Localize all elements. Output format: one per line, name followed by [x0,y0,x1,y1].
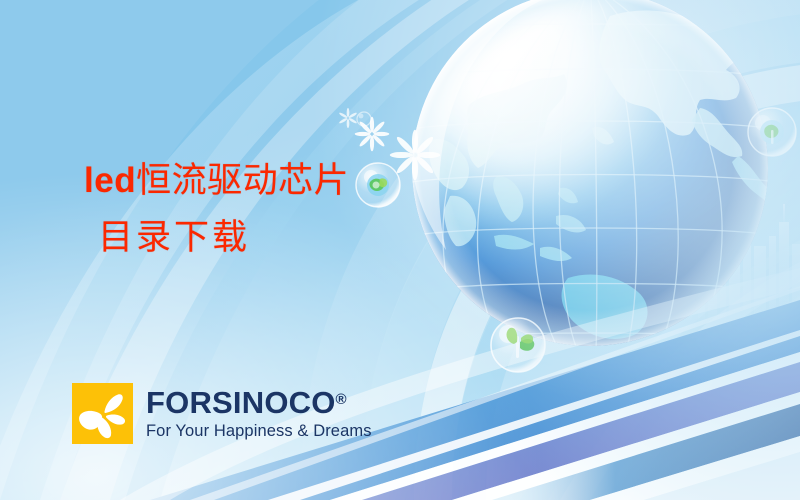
headline-cjk: 恒流驱动芯片 [136,161,349,200]
logo-text: FORSINOCO® For Your Happiness & Dreams [146,383,406,441]
headline-text: led恒流驱动芯片 目录下载 [84,160,504,259]
forsinoco-logo-mark [72,383,133,444]
logo-wordmark: FORSINOCO® [146,383,406,420]
headline-latin: led [84,161,136,200]
registered-trademark-icon: ® [336,391,347,408]
four-petal-pinwheel-icon [72,383,133,444]
banner-image: led恒流驱动芯片 目录下载 FORSINOCO® For [0,0,800,500]
logo-wordmark-text: FORSINOCO [146,385,336,420]
company-logo: FORSINOCO® For Your Happiness & Dreams [72,383,402,445]
logo-tagline: For Your Happiness & Dreams [146,421,406,441]
headline-line-1: led恒流驱动芯片 [84,160,504,203]
headline-line-2: 目录下载 [98,217,504,260]
